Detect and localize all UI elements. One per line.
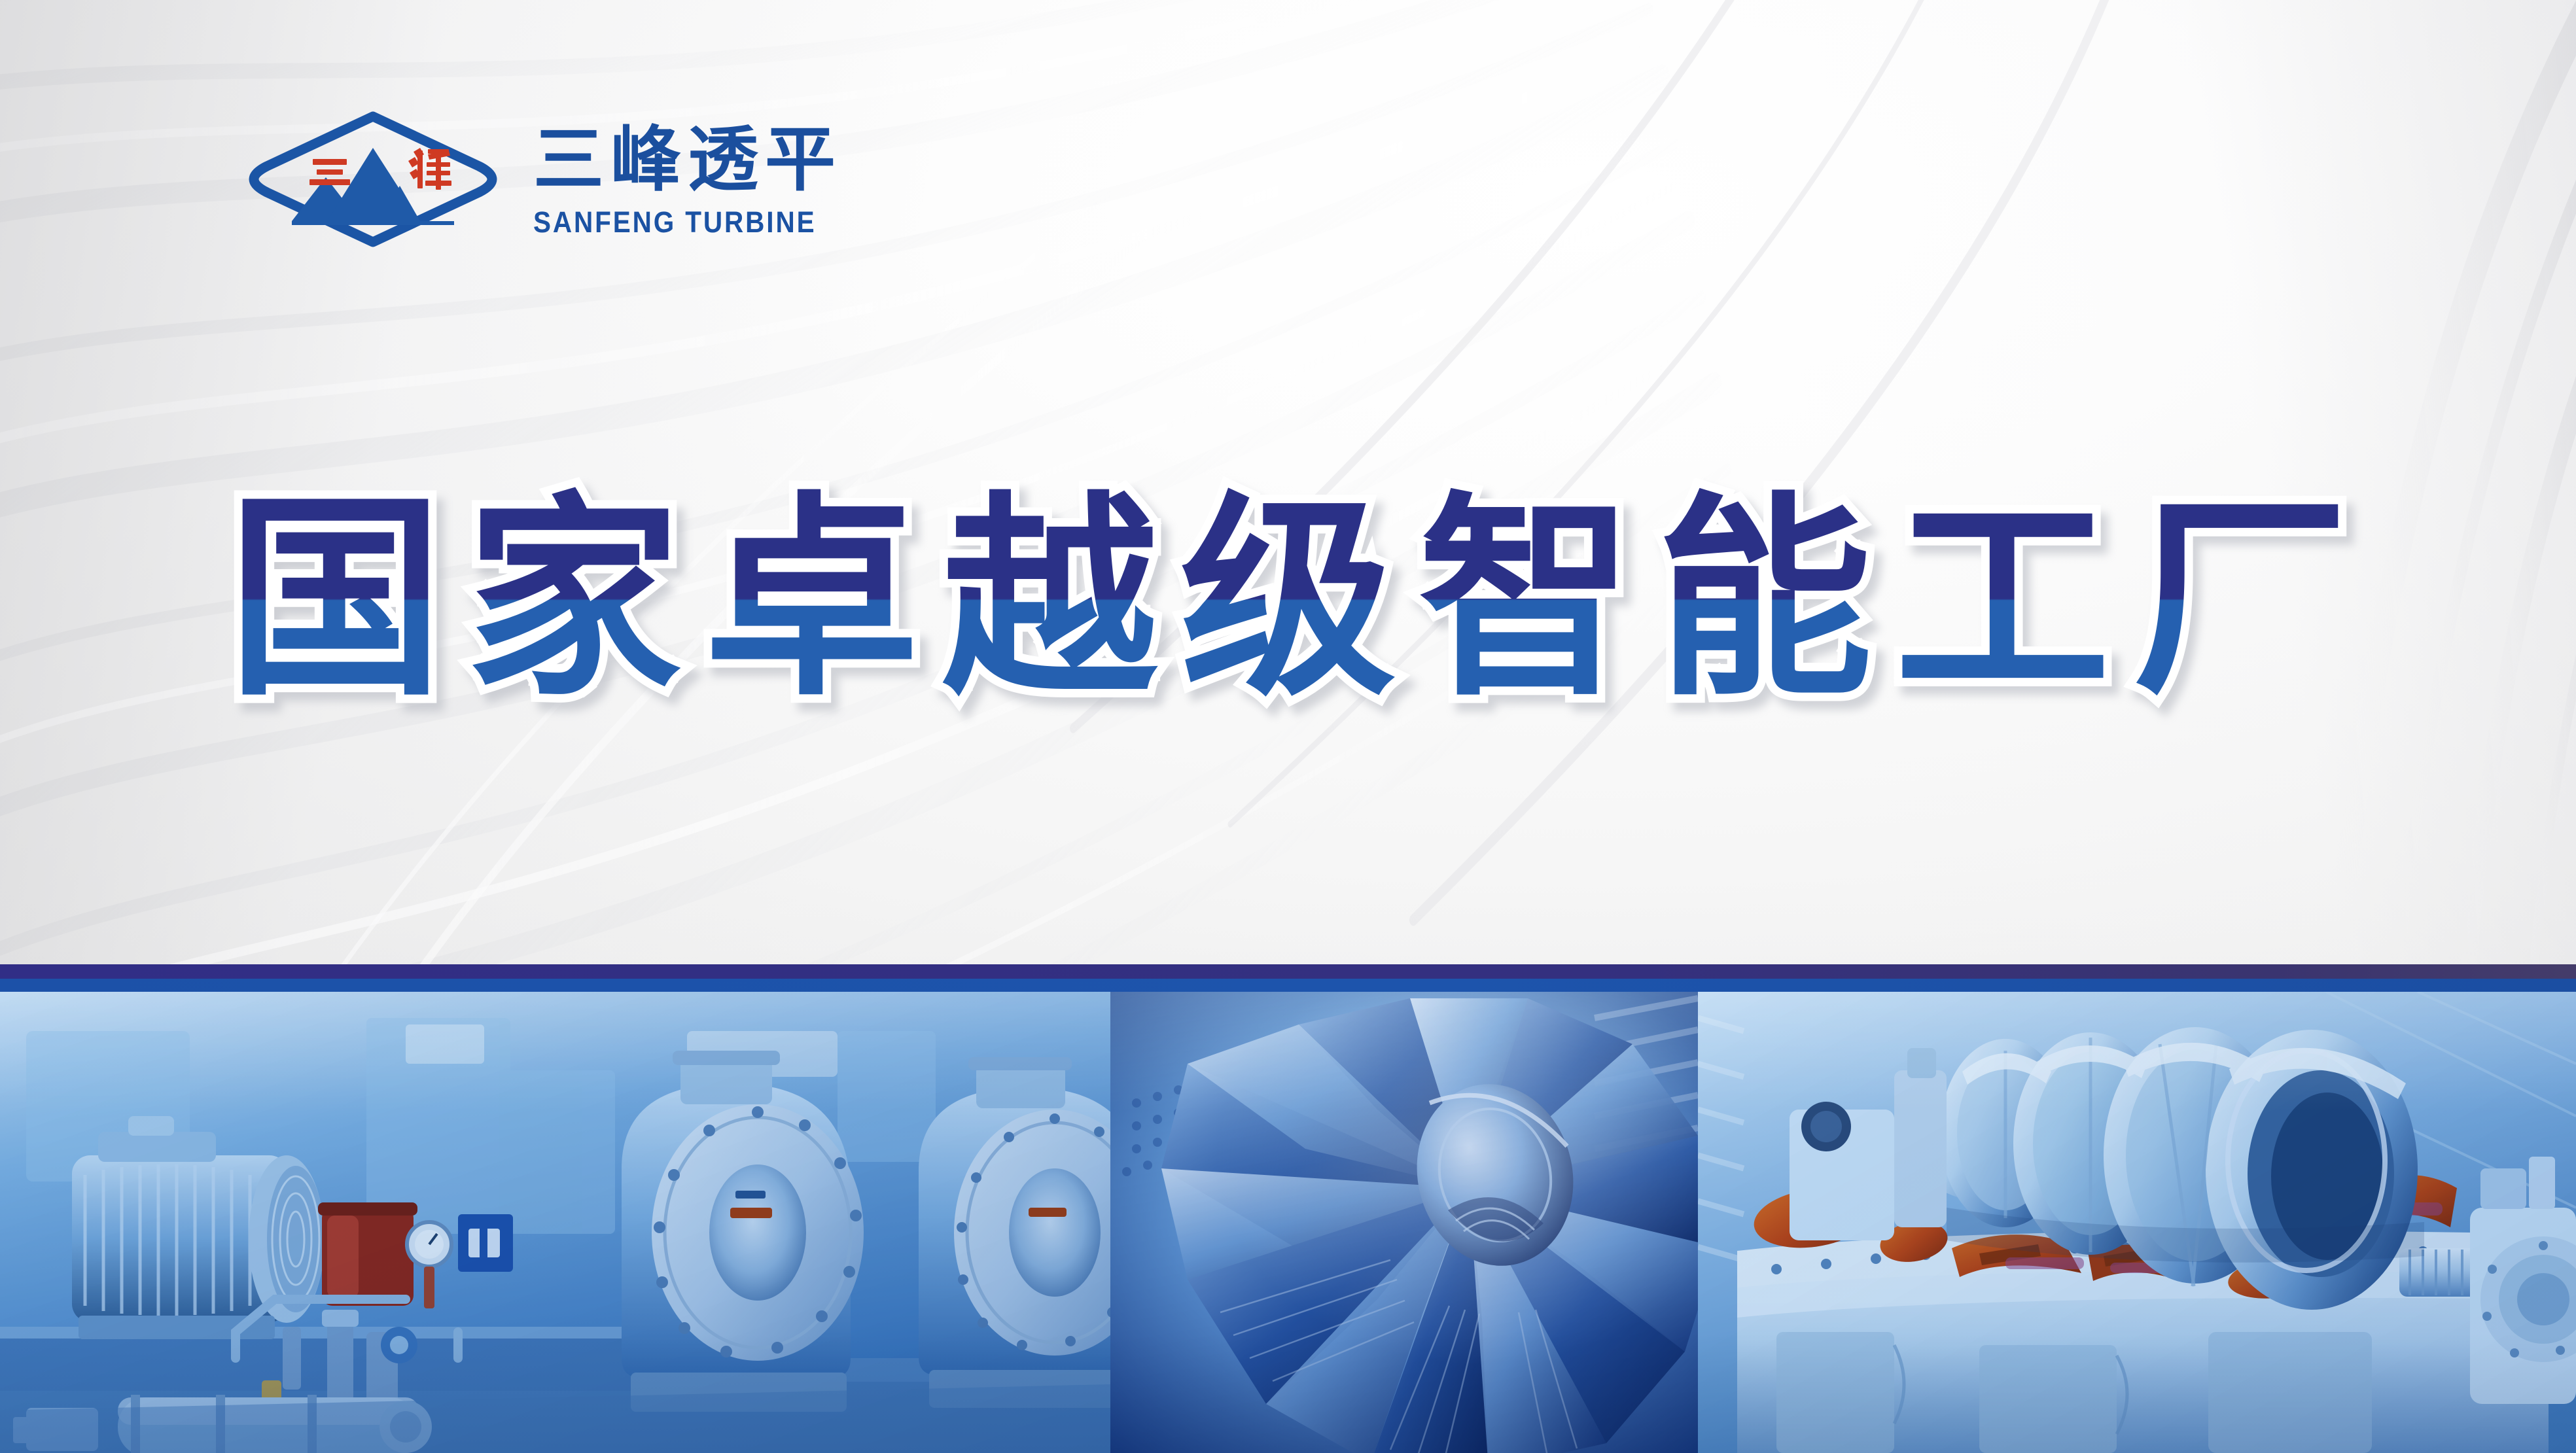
headline: 国家卓越级智能工厂 国家卓越级智能工厂 国家卓越级智能工厂 [0,485,2576,714]
headline-text: 国家卓越级智能工厂 [205,485,2371,714]
logo-char-feng [408,148,451,190]
sanfeng-mountain-diamond-logo-icon [249,110,497,249]
brand-wordmark: 三峰透平 SANFENG TURBINE [533,122,848,236]
brand-name-en: SANFENG TURBINE [533,207,816,237]
brand-name-cn: 三峰透平 [533,124,842,196]
poster-canvas: 三峰透平 SANFENG TURBINE 国家卓越级智能工厂 国家卓越级智能工厂… [0,0,2576,1453]
divider-band-dark [0,964,2576,979]
image-panel-steam-turbine-rotor [1698,992,2576,1453]
image-panel-turbine-impeller [1110,992,1698,1453]
divider-bar [0,964,2576,992]
brand-logo[interactable]: 三峰透平 SANFENG TURBINE [249,110,848,249]
logo-char-san [309,159,350,185]
image-strip [0,992,2576,1453]
divider-band-blue [0,979,2576,992]
image-panel-compressor-train [0,992,1110,1453]
